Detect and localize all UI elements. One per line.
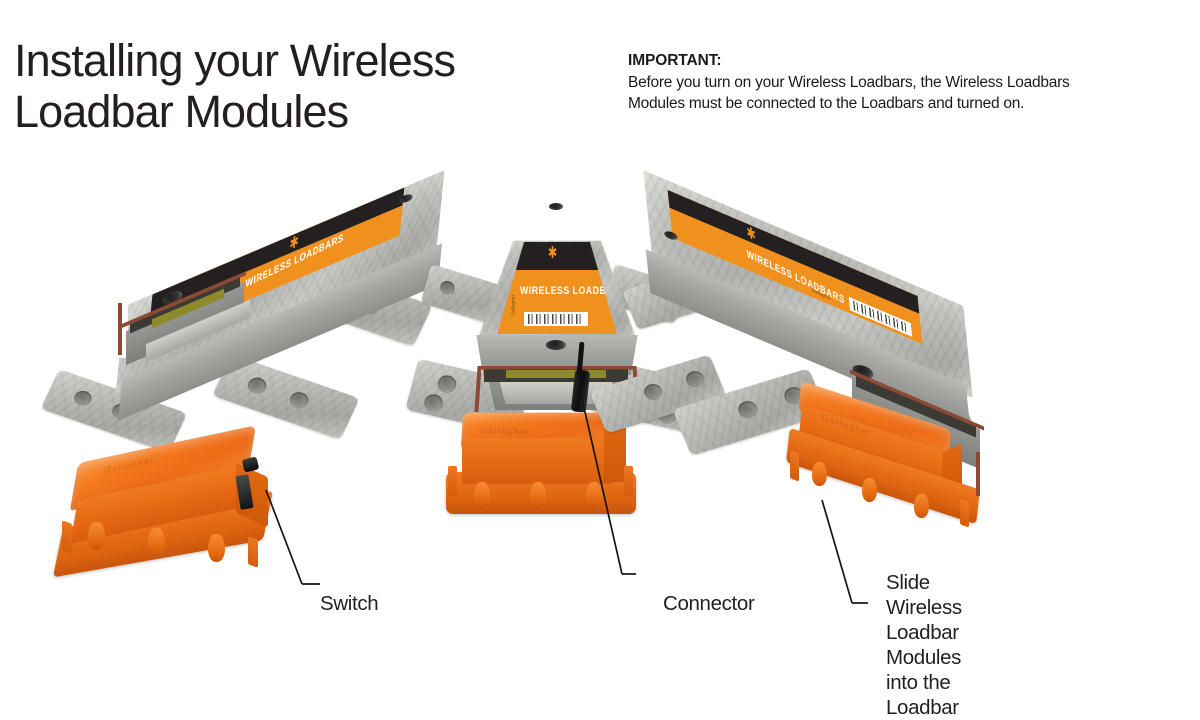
beam-edge-lip: [476, 366, 638, 370]
callout-switch-label: Switch: [320, 591, 378, 616]
channel-internal-component: [506, 370, 606, 378]
module-retaining-tab: [960, 498, 969, 527]
important-label: IMPORTANT:: [628, 52, 1194, 70]
module-switch-nub: [242, 456, 260, 472]
module-retaining-tab: [62, 520, 72, 553]
barcode: [524, 312, 588, 326]
module-peg: [148, 528, 165, 556]
beam-access-hole: [549, 203, 563, 210]
module-embossed-brand: Gallagher: [480, 426, 531, 436]
callout-slide-label: Slide Wireless Loadbar Modules into the …: [886, 570, 962, 720]
beam-access-hole: [546, 340, 566, 350]
callout-connector-label: Connector: [663, 591, 754, 616]
leader-diagonal: [266, 490, 302, 584]
illustration-stage: ✱ WIRELESS LOADBARS Gallagher: [0, 170, 1200, 640]
module-peg: [208, 534, 225, 562]
brand-logo-icon: ✱: [746, 222, 755, 245]
barcode-bars: [528, 314, 584, 325]
important-note: IMPORTANT: Before you turn on your Wirel…: [628, 52, 1194, 114]
module-peg: [88, 522, 105, 550]
leader-diagonal: [822, 500, 852, 603]
important-text: Before you turn on your Wireless Loadbar…: [628, 72, 1194, 114]
brand-logo-icon: ✱: [289, 232, 298, 255]
beam-edge-lip: [976, 452, 980, 496]
leader-line-switch: [252, 488, 322, 608]
label-sub-text: Gallagher: [510, 295, 516, 316]
module-peg: [530, 482, 546, 508]
page-title: Installing your Wireless Loadbar Modules: [14, 36, 614, 138]
module-peg: [914, 494, 929, 518]
leader-line-slide: [820, 498, 870, 613]
module-peg: [474, 482, 490, 508]
module-retaining-tab: [790, 450, 799, 481]
page-root: Installing your Wireless Loadbar Modules…: [0, 0, 1200, 675]
module-retaining-tab: [448, 466, 457, 496]
beam-edge-lip: [118, 303, 122, 355]
module-peg: [812, 462, 827, 486]
brand-logo-icon: ✱: [548, 243, 556, 263]
